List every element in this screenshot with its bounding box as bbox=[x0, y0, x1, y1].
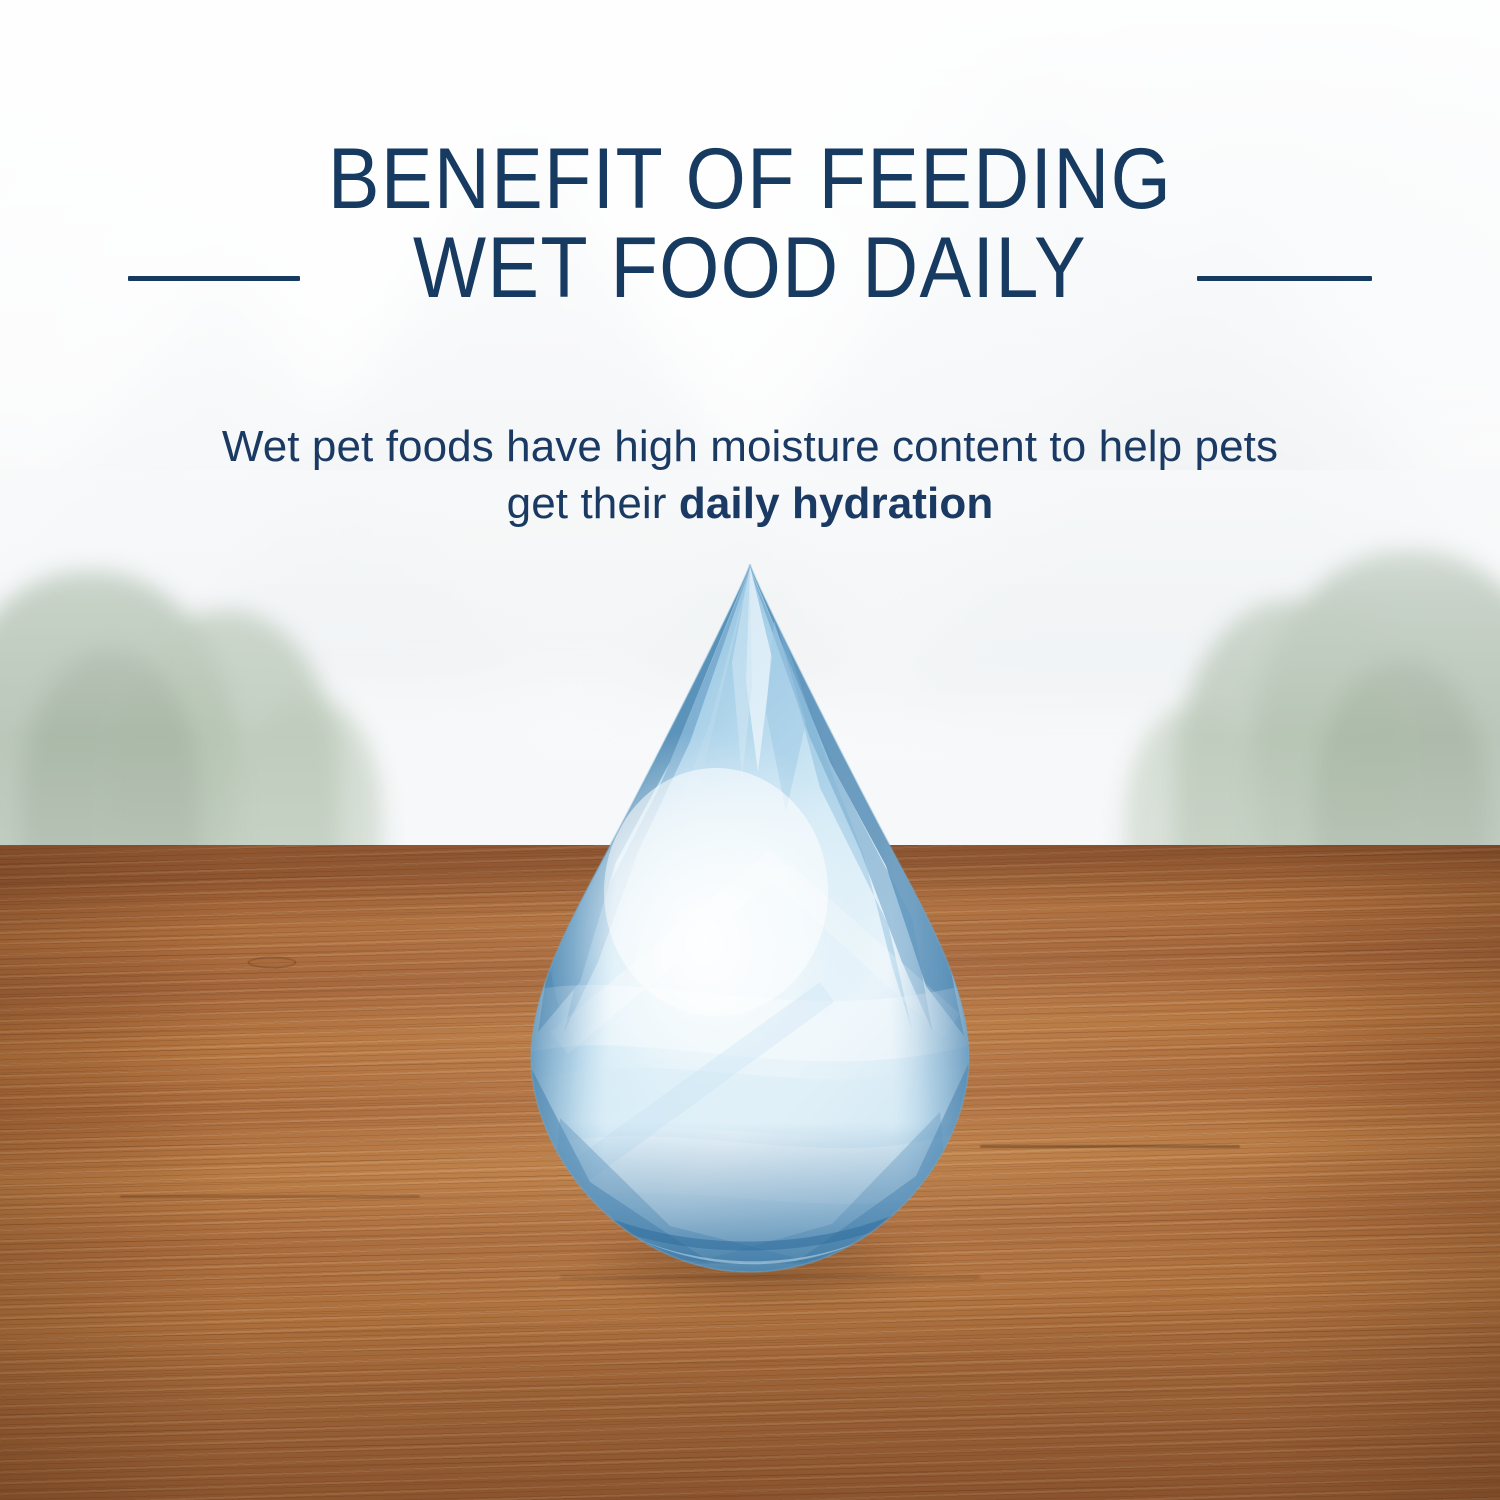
page-title: BENEFIT OF FEEDING WET FOOD DAILY bbox=[75, 138, 1425, 309]
headline-line-1: BENEFIT OF FEEDING bbox=[328, 131, 1172, 227]
title-rule-right bbox=[1197, 276, 1372, 281]
water-droplet-icon bbox=[520, 562, 980, 1274]
wood-grain-crack-3 bbox=[560, 1275, 980, 1279]
subtitle: Wet pet foods have high moisture content… bbox=[190, 418, 1310, 532]
promo-banner: BENEFIT OF FEEDING WET FOOD DAILY Wet pe… bbox=[0, 0, 1500, 1500]
wood-grain-crack-2 bbox=[120, 1195, 420, 1198]
wood-knot-mark bbox=[248, 957, 296, 968]
headline-line-2: WET FOOD DAILY bbox=[75, 227, 1425, 310]
title-rule-left bbox=[128, 276, 300, 281]
wood-grain-crack-1 bbox=[980, 1145, 1240, 1148]
subtitle-emphasis: daily hydration bbox=[679, 479, 993, 528]
